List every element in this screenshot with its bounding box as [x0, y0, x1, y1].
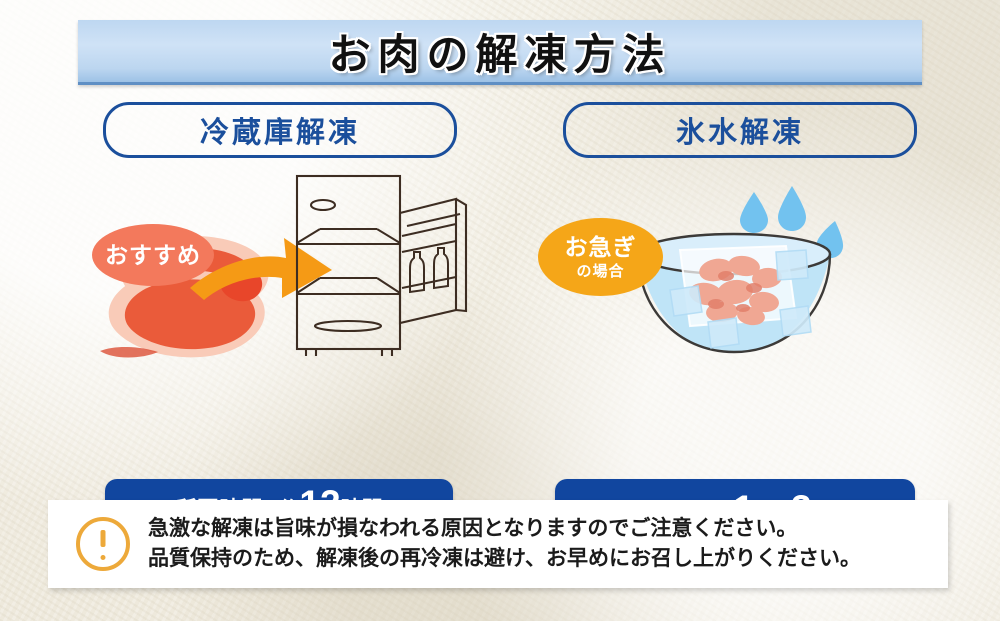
- exclamation-circle-icon: [76, 517, 130, 571]
- method-card-fridge: 冷蔵庫解凍: [70, 102, 490, 482]
- method-card-icewater: 氷水解凍: [530, 102, 950, 482]
- badge-hurry: お急ぎ の場合: [538, 218, 663, 296]
- warning-line-2: 品質保持のため、解凍後の再冷凍は避け、お早めにお召し上がりください。: [148, 544, 861, 574]
- method-heading-pill-icewater: 氷水解凍: [563, 102, 917, 158]
- title-banner: お肉の解凍方法: [78, 20, 922, 85]
- badge-label-primary: おすすめ: [105, 244, 201, 267]
- warning-text: 急激な解凍は旨味が損なわれる原因となりますのでご注意ください。 品質保持のため、…: [148, 514, 861, 574]
- page-title: お肉の解凍方法: [328, 21, 671, 82]
- badge-label-primary: お急ぎ: [565, 236, 637, 259]
- warning-line-1: 急激な解凍は旨味が損なわれる原因となりますのでご注意ください。: [148, 514, 861, 544]
- method-heading-label: 氷水解凍: [676, 109, 804, 151]
- illustration-fridge: おすすめ: [70, 166, 490, 381]
- infographic-page: お肉の解凍方法 冷蔵庫解凍: [0, 0, 1000, 621]
- badge-label-secondary: の場合: [576, 264, 624, 279]
- method-heading-label: 冷蔵庫解凍: [200, 109, 360, 151]
- method-heading-pill-fridge: 冷蔵庫解凍: [103, 102, 457, 158]
- badge-recommended: おすすめ: [92, 224, 214, 286]
- warning-card: 急激な解凍は旨味が損なわれる原因となりますのでご注意ください。 品質保持のため、…: [48, 500, 948, 588]
- illustration-icewater: お急ぎ の場合: [530, 166, 950, 381]
